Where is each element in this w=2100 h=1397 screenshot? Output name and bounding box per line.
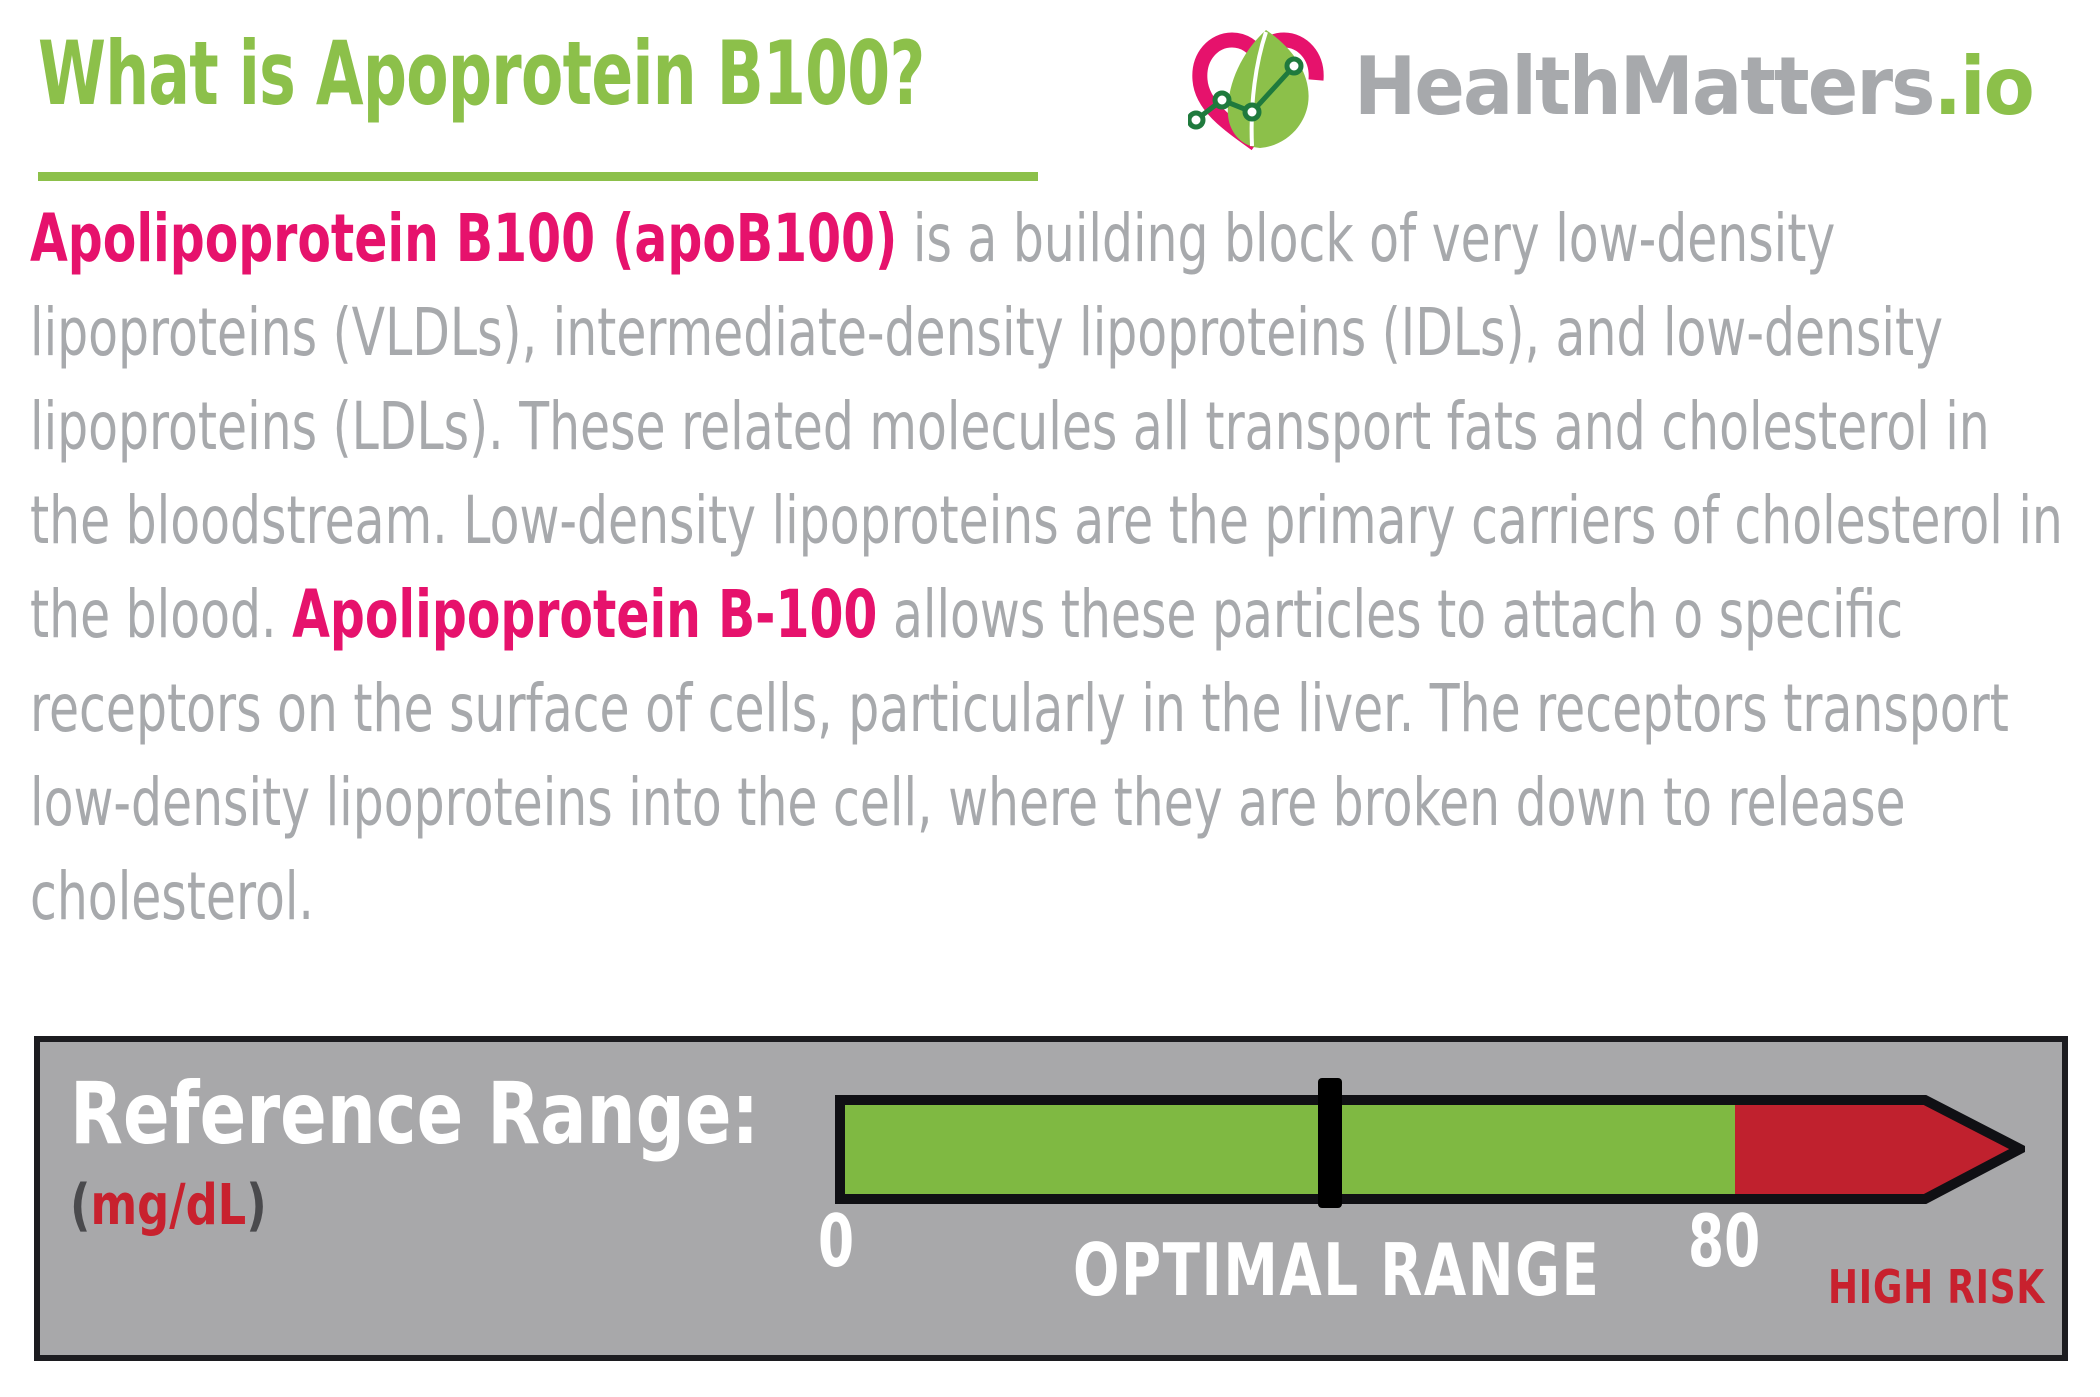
high-risk-label: HIGH RISK	[1828, 1262, 2045, 1312]
page-title: What is Apoprotein B100?	[38, 26, 924, 122]
reference-range-panel: Reference Range: (mg/dL)	[34, 1036, 2068, 1361]
brand-name-suffix: .io	[1934, 40, 2033, 133]
units-value: mg/dL	[90, 1173, 246, 1238]
range-bar-graphic	[835, 1092, 2025, 1207]
title-underline	[38, 172, 1038, 181]
header: What is Apoprotein B100? HealthMatters.i…	[0, 0, 2100, 185]
reference-range-label: Reference Range:	[70, 1068, 759, 1160]
brand-name-primary: HealthMatters	[1354, 40, 1934, 133]
units-paren-close: )	[246, 1173, 266, 1238]
highlight-term-apob100: Apolipoprotein B100 (apoB100)	[30, 200, 897, 277]
optimal-range-segment	[840, 1100, 1735, 1199]
brand-logo: HealthMatters.io	[1188, 22, 2084, 152]
brand-wordmark: HealthMatters.io	[1354, 47, 2033, 127]
healthmatters-heart-leaf-chart-logo-icon	[1188, 22, 1338, 152]
scale-min-label: 0	[818, 1203, 854, 1279]
optimal-range-label: OPTIMAL RANGE	[1073, 1232, 1600, 1308]
description-paragraph: Apolipoprotein B100 (apoB100) is a build…	[30, 192, 2080, 944]
highlight-term-apolipoprotein-b-100: Apolipoprotein B-100	[292, 576, 877, 653]
high-risk-segment	[1735, 1100, 2020, 1199]
reference-range-units: (mg/dL)	[70, 1176, 267, 1236]
scale-max-label: 80	[1688, 1203, 1760, 1279]
units-paren-open: (	[70, 1173, 90, 1238]
reference-range-bar	[835, 1092, 2025, 1207]
range-tick-marker	[1318, 1078, 1342, 1208]
